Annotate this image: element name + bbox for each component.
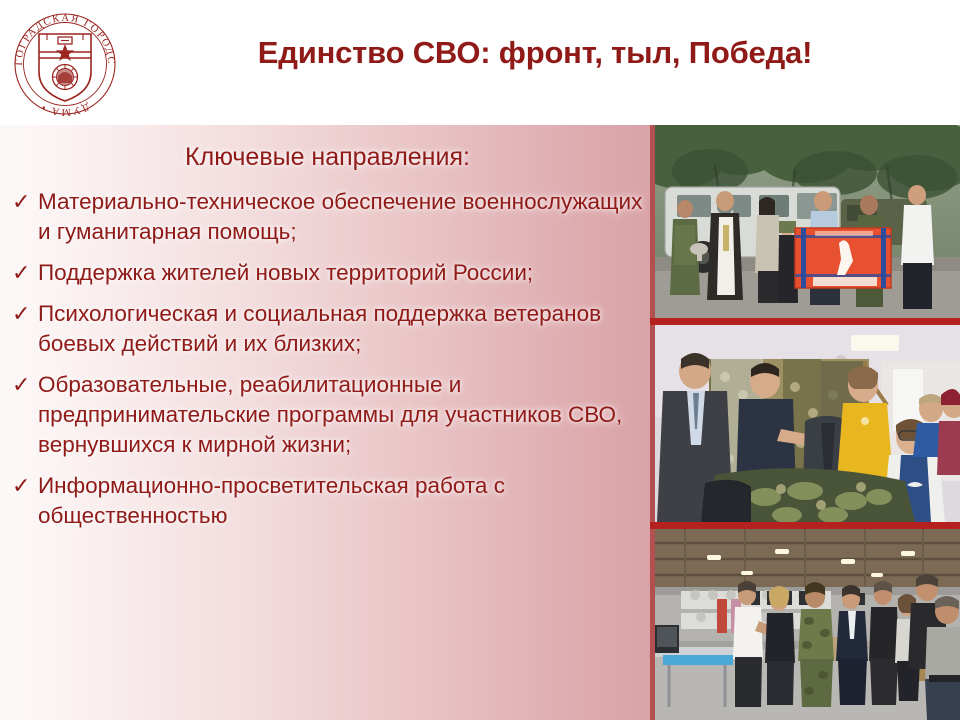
list-item-label: Образовательные, реабилитационные и пред… — [38, 370, 652, 460]
list-item-label: Информационно-просветительская работа с … — [38, 471, 652, 531]
checkmark-icon: ✓ — [12, 187, 38, 217]
checkmark-icon: ✓ — [12, 471, 38, 501]
slide-body: Ключевые направления: ✓ Материально-техн… — [0, 125, 960, 720]
photo-separator — [650, 522, 960, 529]
page-title: Единство СВО: фронт, тыл, Победа! — [140, 36, 930, 70]
list-item-label: Психологическая и социальная поддержка в… — [38, 299, 652, 359]
presentation-slide: ВОЛГОГРАДСКАЯ ГОРОДСКАЯ ДУМА • — [0, 0, 960, 720]
list-item-label: Поддержка жителей новых территорий Росси… — [38, 258, 652, 288]
photo-separator — [650, 318, 960, 325]
list-item: ✓ Информационно-просветительская работа … — [12, 471, 652, 531]
photo-column — [650, 125, 960, 720]
checkmark-icon: ✓ — [12, 299, 38, 329]
volgograd-city-duma-emblem-icon: ВОЛГОГРАДСКАЯ ГОРОДСКАЯ ДУМА • — [6, 2, 124, 120]
checkmark-icon: ✓ — [12, 370, 38, 400]
list-item: ✓ Психологическая и социальная поддержка… — [12, 299, 652, 359]
list-item: ✓ Образовательные, реабилитационные и пр… — [12, 370, 652, 460]
list-item: ✓ Поддержка жителей новых территорий Рос… — [12, 258, 652, 288]
photo-factory-visit — [655, 529, 960, 720]
photo-humanitarian-convoy — [655, 125, 960, 318]
photo-volunteer-workshop — [655, 325, 960, 522]
section-heading: Ключевые направления: — [40, 143, 615, 172]
slide-header: ВОЛГОГРАДСКАЯ ГОРОДСКАЯ ДУМА • — [0, 0, 960, 125]
svg-text:ДУМА •: ДУМА • — [39, 100, 91, 117]
checkmark-icon: ✓ — [12, 258, 38, 288]
key-directions-panel: Ключевые направления: ✓ Материально-техн… — [0, 125, 655, 720]
list-item-label: Материально-техническое обеспечение воен… — [38, 187, 652, 247]
list-item: ✓ Материально-техническое обеспечение во… — [12, 187, 652, 247]
key-directions-list: ✓ Материально-техническое обеспечение во… — [12, 187, 652, 542]
